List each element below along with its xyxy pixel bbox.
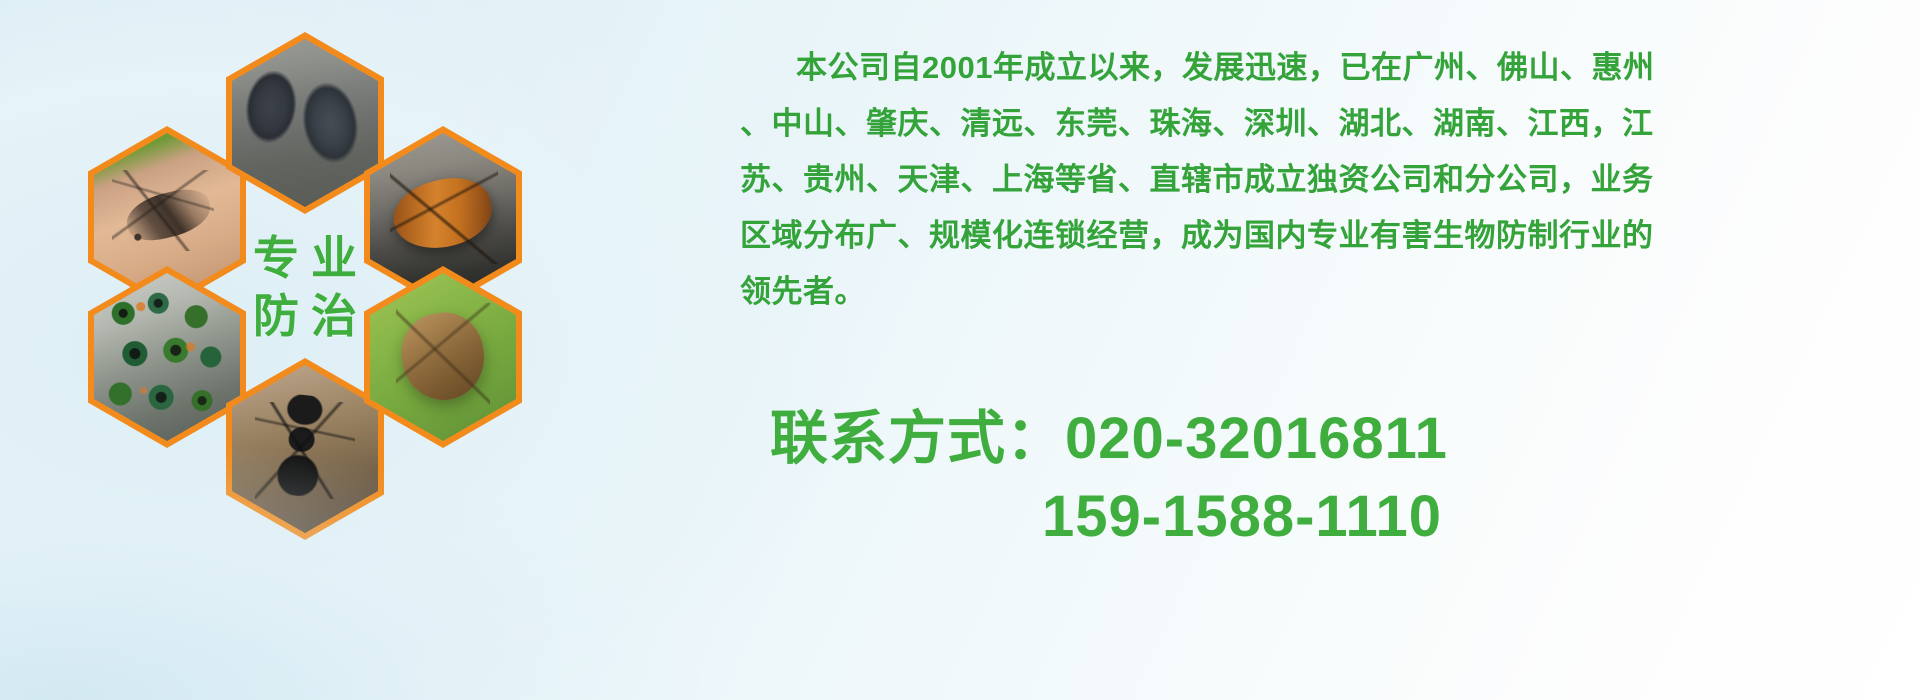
stinkbug-icon bbox=[370, 273, 516, 441]
contact-block: 联系方式：020-32016811 159-1588-1110 bbox=[770, 400, 1890, 556]
hex-photo-rats bbox=[226, 32, 384, 214]
contact-phone-landline[interactable]: 联系方式：020-32016811 bbox=[770, 400, 1890, 478]
hex-photo-stinkbug bbox=[364, 266, 522, 448]
hex-photo-flies-inner bbox=[94, 273, 240, 441]
honeycomb-image-cluster: 专业 防治 bbox=[88, 18, 588, 568]
ant-icon bbox=[232, 365, 378, 533]
hex-photo-ant bbox=[226, 358, 384, 540]
description-line-2: 、中山、肇庆、清远、东莞、珠海、深圳、湖北、湖南、江西，江 bbox=[740, 96, 1870, 152]
slogan-line-2: 防治 bbox=[241, 292, 369, 340]
slogan-line-1: 专业 bbox=[241, 234, 369, 282]
description-line-3: 苏、贵州、天津、上海等省、直辖市成立独资公司和分公司，业务 bbox=[740, 152, 1870, 208]
hex-photo-ant-inner bbox=[232, 365, 378, 533]
description-line-1: 本公司自2001年成立以来，发展迅速，已在广州、佛山、惠州 bbox=[740, 40, 1870, 96]
description-line-4: 区域分布广、规模化连锁经营，成为国内专业有害生物防制行业的 bbox=[740, 208, 1870, 264]
slogan-hexagon: 专业 防治 bbox=[226, 196, 384, 378]
description-line-5: 领先者。 bbox=[740, 264, 1870, 320]
promo-banner: 专业 防治 本公司自2001年成立以来，发展迅速，已在广州、佛山、惠州 、中山、… bbox=[0, 0, 1920, 700]
contact-phone-mobile[interactable]: 159-1588-1110 bbox=[770, 478, 1890, 556]
hex-photo-rats-inner bbox=[232, 39, 378, 207]
hex-photo-flies bbox=[88, 266, 246, 448]
rats-icon bbox=[232, 39, 378, 207]
flies-icon bbox=[94, 273, 240, 441]
company-description: 本公司自2001年成立以来，发展迅速，已在广州、佛山、惠州 、中山、肇庆、清远、… bbox=[740, 40, 1870, 320]
hex-photo-stinkbug-inner bbox=[370, 273, 516, 441]
company-description-paragraph: 本公司自2001年成立以来，发展迅速，已在广州、佛山、惠州 、中山、肇庆、清远、… bbox=[740, 40, 1870, 320]
